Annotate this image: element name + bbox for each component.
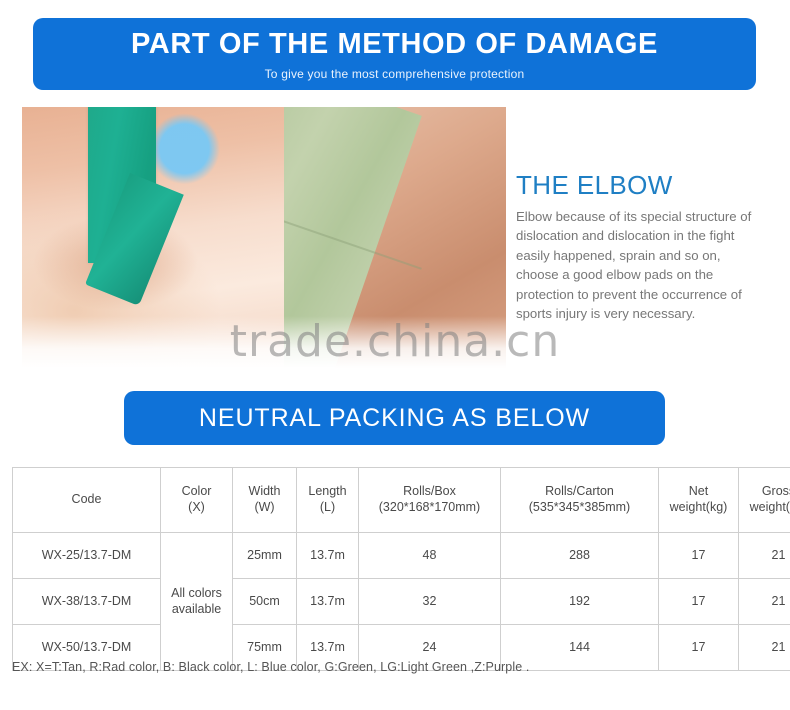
hero-section: THE ELBOW Elbow because of its special s… [22, 107, 768, 368]
hero-text-block: THE ELBOW Elbow because of its special s… [516, 107, 768, 368]
top-banner-title: PART OF THE METHOD OF DAMAGE [131, 29, 658, 59]
header-color: Color (X) [161, 468, 233, 533]
cell-length: 13.7m [297, 579, 359, 625]
cell-rolls-box: 48 [359, 533, 501, 579]
cell-length: 13.7m [297, 533, 359, 579]
header-net-weight-main: Net [689, 484, 708, 498]
header-code-main: Code [72, 492, 102, 506]
header-length: Length (L) [297, 468, 359, 533]
cell-color-merged: All colors available [161, 533, 233, 671]
cell-code: WX-25/13.7-DM [13, 533, 161, 579]
header-width-sub: (W) [235, 500, 294, 516]
cell-width: 25mm [233, 533, 297, 579]
header-rolls-carton: Rolls/Carton (535*345*385mm) [501, 468, 659, 533]
cell-rolls-carton: 192 [501, 579, 659, 625]
table-row: WX-25/13.7-DM All colors available 25mm … [13, 533, 790, 579]
header-width: Width (W) [233, 468, 297, 533]
cell-code: WX-38/13.7-DM [13, 579, 161, 625]
header-gross-weight: Gross weight(kg) [739, 468, 790, 533]
packing-table: Code Color (X) Width (W) Length (L) Roll… [12, 467, 790, 671]
hero-heading: THE ELBOW [516, 170, 768, 201]
header-length-main: Length [308, 484, 346, 498]
header-net-weight: Net weight(kg) [659, 468, 739, 533]
header-gross-weight-sub: weight(kg) [741, 500, 790, 516]
header-code: Code [13, 468, 161, 533]
cell-net-weight: 17 [659, 579, 739, 625]
photo-bottom-fade [22, 316, 284, 368]
hero-description: Elbow because of its special structure o… [516, 207, 764, 323]
header-rolls-box: Rolls/Box (320*168*170mm) [359, 468, 501, 533]
cell-gross-weight: 21 [739, 625, 790, 671]
top-banner: PART OF THE METHOD OF DAMAGE To give you… [33, 18, 756, 90]
header-gross-weight-main: Gross [762, 484, 790, 498]
cell-gross-weight: 21 [739, 533, 790, 579]
cell-net-weight: 17 [659, 625, 739, 671]
packing-banner-title: NEUTRAL PACKING AS BELOW [199, 404, 590, 433]
cell-rolls-box: 32 [359, 579, 501, 625]
header-rolls-carton-sub: (535*345*385mm) [503, 500, 656, 516]
green-tape-photo [284, 107, 506, 368]
photo-bottom-fade [284, 316, 506, 368]
header-length-sub: (L) [299, 500, 356, 516]
header-color-sub: (X) [163, 500, 230, 516]
header-color-main: Color [182, 484, 212, 498]
cell-net-weight: 17 [659, 533, 739, 579]
header-rolls-box-main: Rolls/Box [403, 484, 456, 498]
color-legend-note: EX: X=T:Tan, R:Rad color, B: Black color… [12, 660, 529, 674]
header-rolls-carton-main: Rolls/Carton [545, 484, 614, 498]
top-banner-subtitle: To give you the most comprehensive prote… [265, 67, 525, 81]
cell-rolls-carton: 288 [501, 533, 659, 579]
header-width-main: Width [249, 484, 281, 498]
cell-gross-weight: 21 [739, 579, 790, 625]
header-net-weight-sub: weight(kg) [661, 500, 736, 516]
cell-width: 50cm [233, 579, 297, 625]
packing-banner: NEUTRAL PACKING AS BELOW [124, 391, 665, 445]
header-rolls-box-sub: (320*168*170mm) [361, 500, 498, 516]
table-row: WX-38/13.7-DM 50cm 13.7m 32 192 17 21 [13, 579, 790, 625]
elbow-tape-photo [22, 107, 284, 368]
table-header-row: Code Color (X) Width (W) Length (L) Roll… [13, 468, 790, 533]
